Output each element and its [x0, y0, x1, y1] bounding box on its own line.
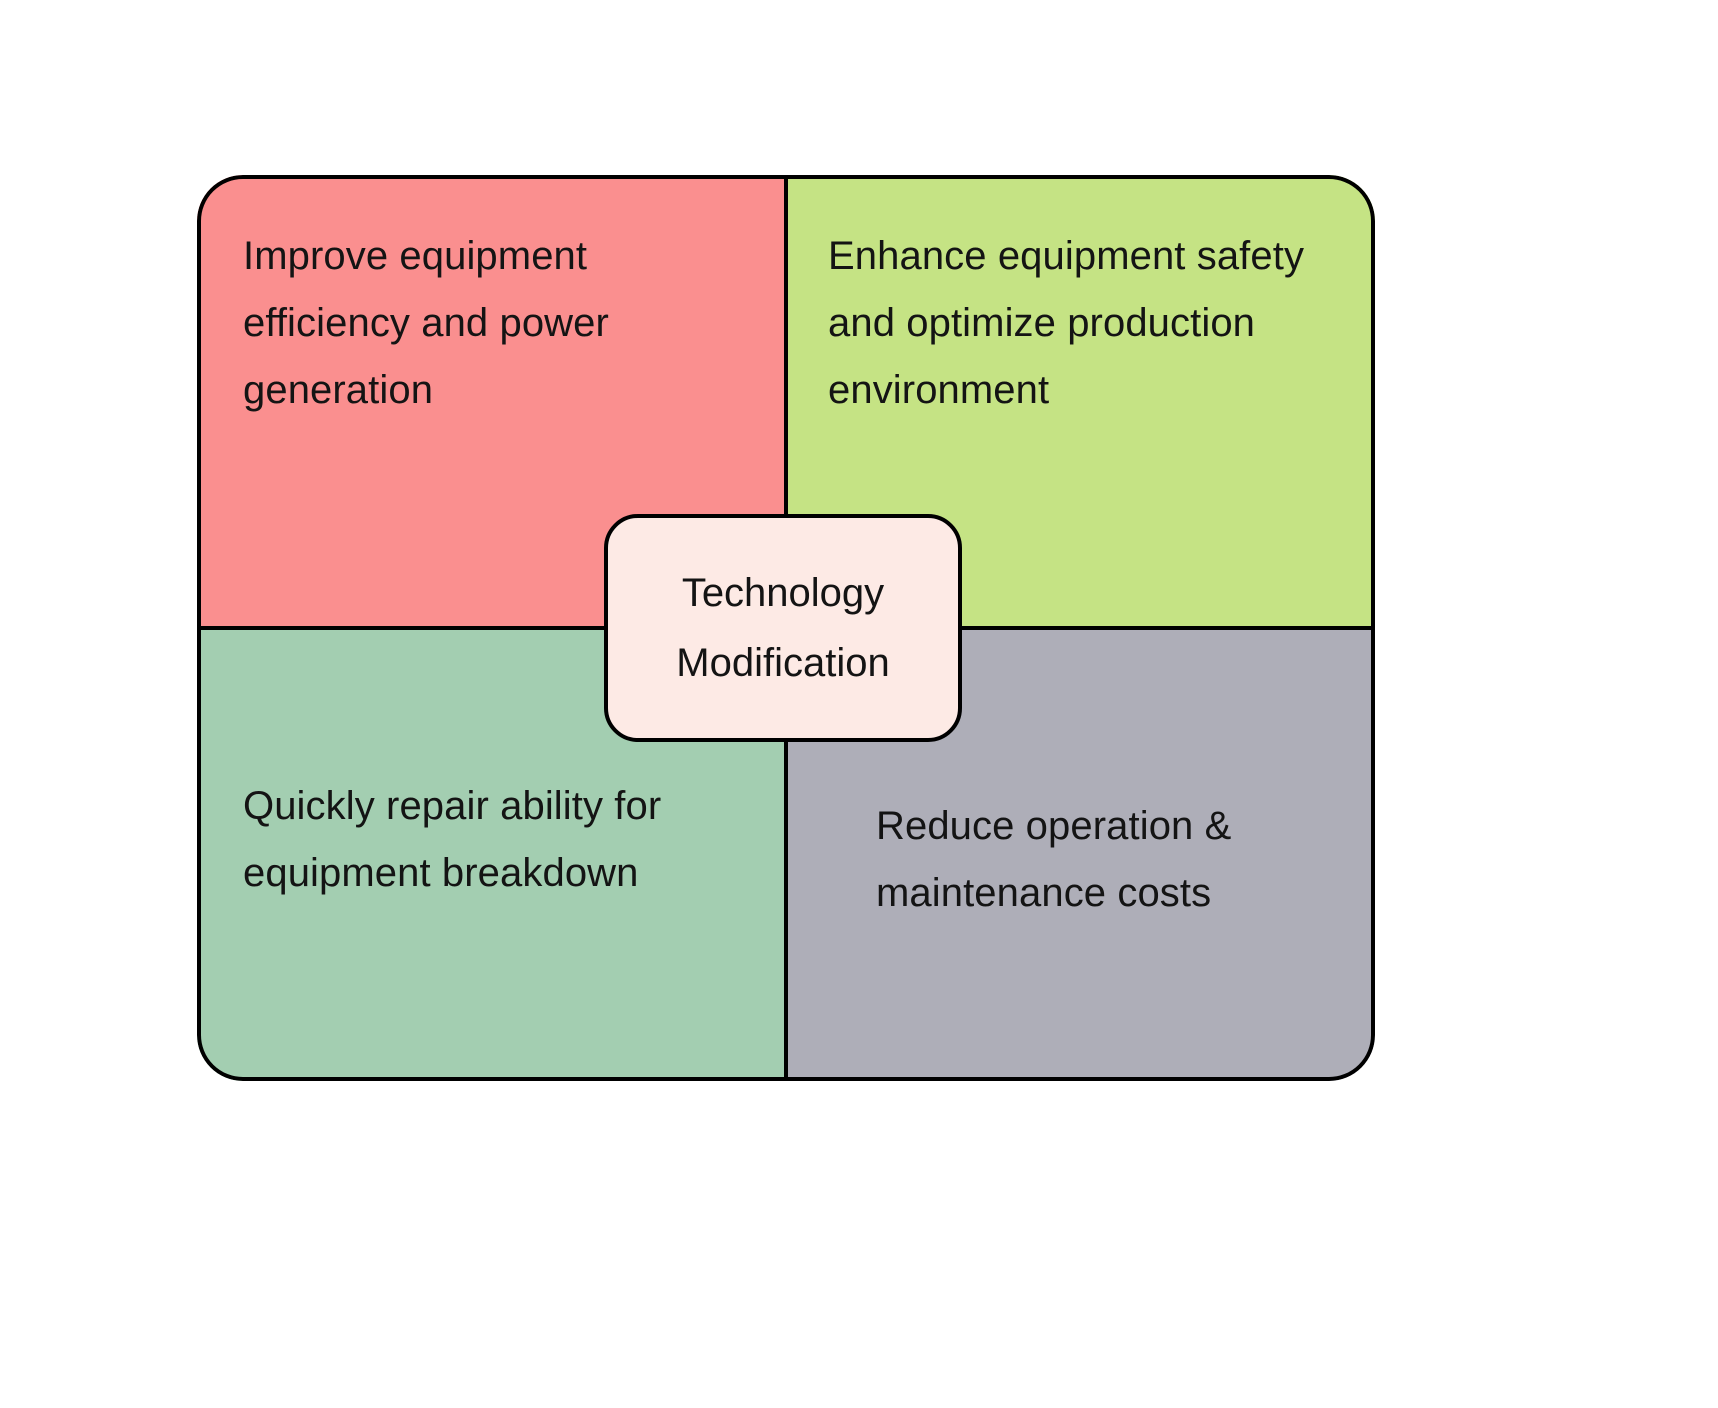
quadrant-top-left-label: Improve equipment efficiency and power g…	[197, 175, 786, 425]
center-hub-label-line2: Modification	[676, 628, 889, 698]
quadrant-top-right-label: Enhance equipment safety and optimize pr…	[786, 175, 1375, 425]
diagram-canvas: Improve equipment efficiency and power g…	[0, 0, 1718, 1408]
center-hub-label-line1: Technology	[682, 558, 884, 628]
center-hub[interactable]: Technology Modification	[604, 514, 962, 742]
